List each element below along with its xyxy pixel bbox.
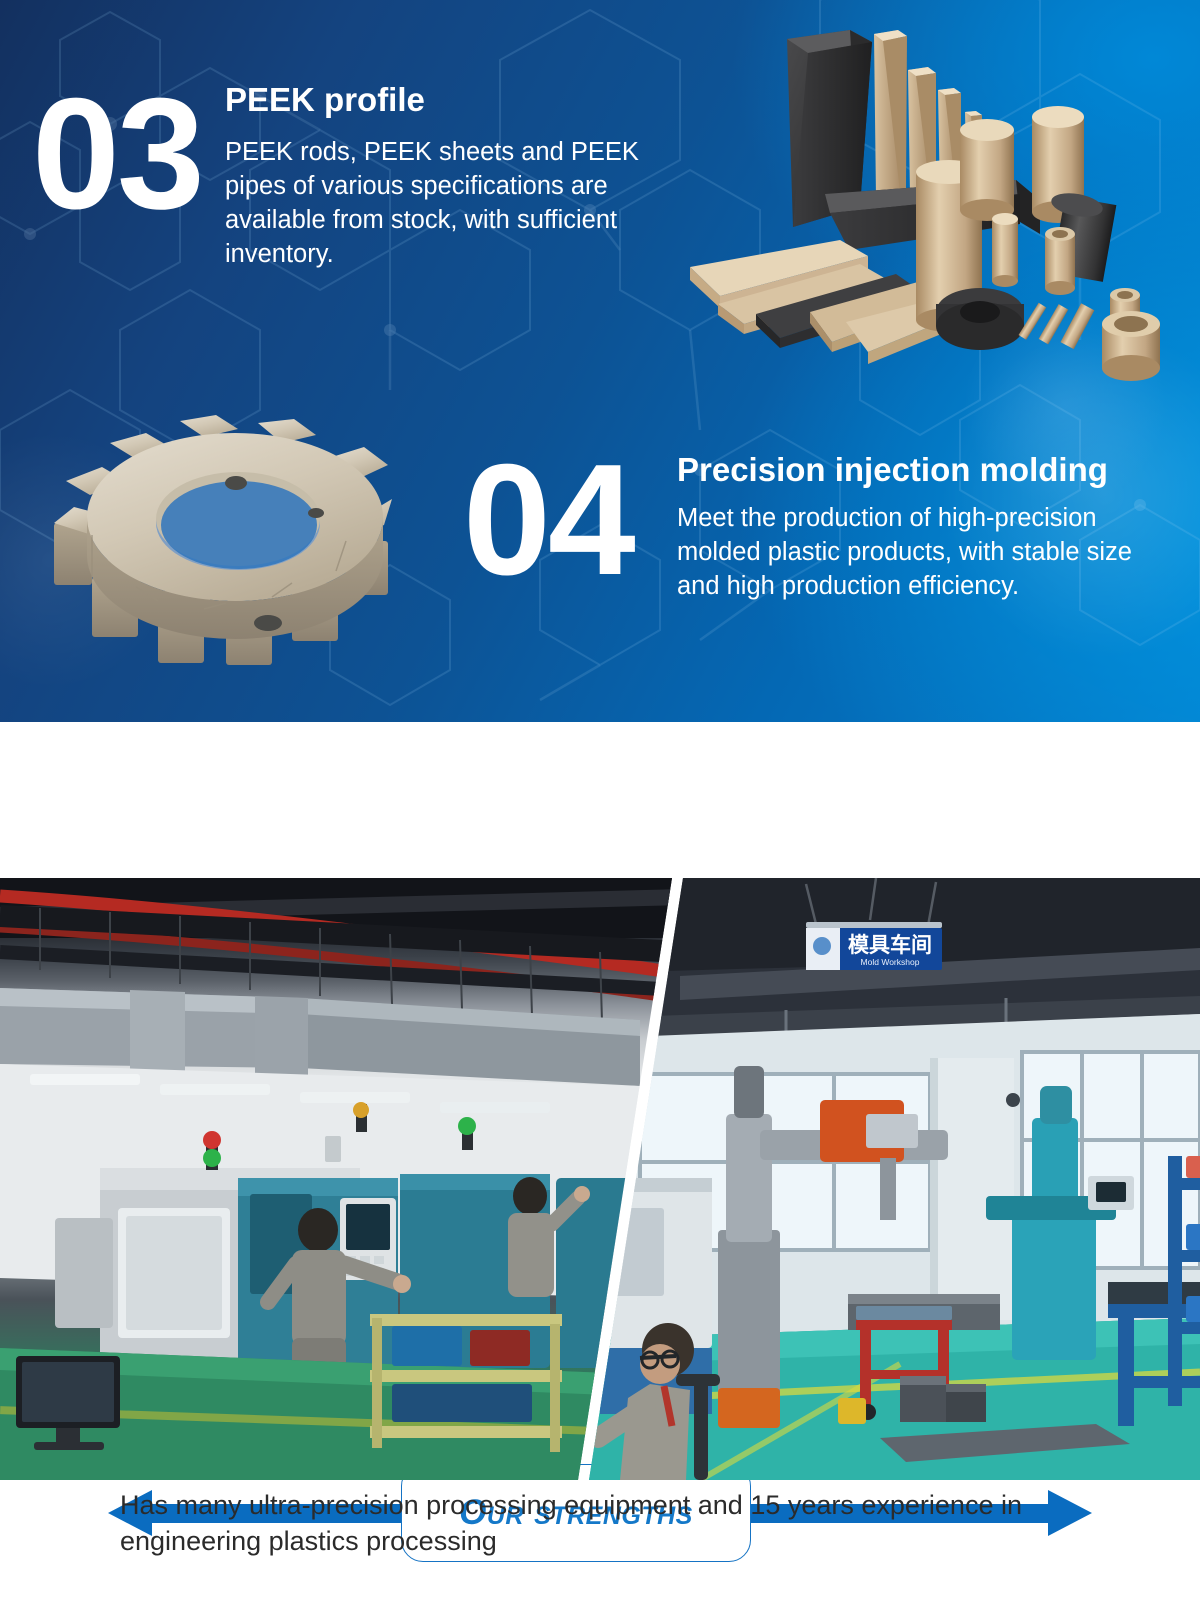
feature-number-03: 03 [32,82,202,227]
factory-photo-strip: 模具车间 Mold Workshop [0,878,1200,1480]
sign-text-cn: 模具车间 [848,933,932,957]
feature-title-04: Precision injection molding [677,452,1177,488]
peek-rod-small [992,213,1018,287]
peek-rod-upper [960,119,1014,221]
peek-black-ring [936,288,1024,350]
feature-title-03: PEEK profile [225,82,680,118]
peek-gear-image [40,395,430,680]
hero-panel: 03 PEEK profile PEEK rods, PEEK sheets a… [0,0,1200,722]
peek-products-image [660,12,1200,382]
gear-hole-right [308,508,324,518]
feature-body-03: PEEK rods, PEEK sheets and PEEK pipes of… [225,136,680,272]
peek-tube-large [1102,311,1160,381]
gear-hole-top [225,476,247,490]
sign-text-en: Mold Workshop [861,957,920,967]
strengths-banner: Our strengths [0,722,1200,878]
feature-body-04: Meet the production of high-precision mo… [677,502,1177,604]
photo-cnc-workshop [0,878,680,1480]
feature-number-04: 04 [463,448,633,593]
peek-thin-rods [1019,303,1095,349]
peek-tube-beige [1045,227,1075,295]
gear-hole-bottom [254,615,282,631]
promo-page: 03 PEEK profile PEEK rods, PEEK sheets a… [0,0,1200,1616]
footer-caption: Has many ultra-precision processing equi… [0,1488,1200,1560]
